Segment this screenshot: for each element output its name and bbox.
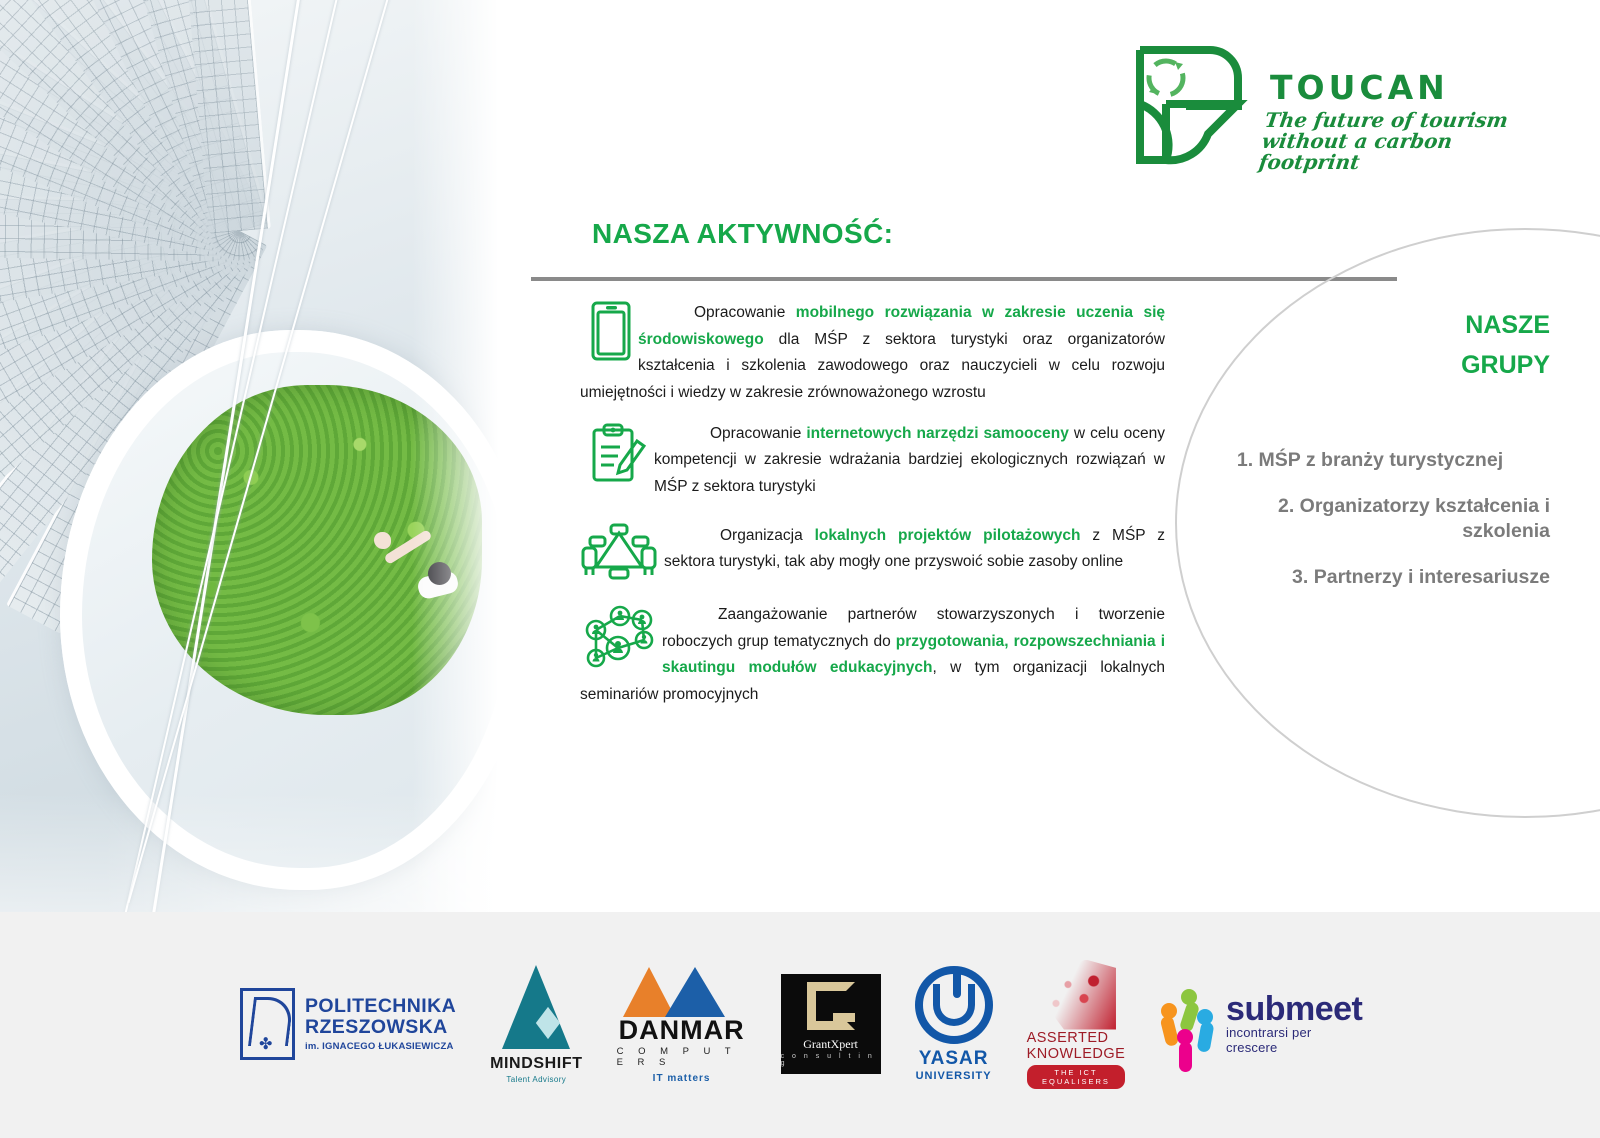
grantxpert-g-icon (807, 982, 855, 1030)
grantxpert-line1: GrantXpert (803, 1037, 858, 1052)
danmar-peak-blue-icon (665, 967, 725, 1017)
activities-list: Opracowanie mobilnego rozwiązania w zakr… (580, 300, 1165, 715)
group-item-1: 1. MŚP z branży turystycznej (1190, 448, 1550, 472)
toucan-logo[interactable]: TOUCAN The future of tourism without a c… (1122, 40, 1542, 180)
activity-text-4: Zaangażowanie partnerów stowarzyszonych … (580, 602, 1165, 709)
politechnika-star-icon: ✤ (259, 1034, 272, 1054)
groups-items: 1. MŚP z branży turystycznej 2. Organiza… (1190, 448, 1550, 612)
highlighted-phrase: internetowych narzędzi samooceny (806, 425, 1068, 442)
yasar-circle-icon (915, 966, 993, 1044)
body-phrase: Opracowanie (710, 425, 806, 442)
group-item-3: 3. Partnerzy i interesariusze (1190, 565, 1550, 589)
photo-right-fade (412, 0, 530, 912)
asserted-knowledge-face-icon (1036, 960, 1116, 1030)
mindshift-logo[interactable]: MINDSHIFT Talent Advisory (490, 959, 583, 1089)
asserted-line1: ASSERTED KNOWLEDGE (1027, 1030, 1126, 1062)
brand-tagline: The future of tourism without a carbon f… (1258, 110, 1547, 173)
brand-tagline-line2: without a carbon footprint (1258, 131, 1544, 173)
clipboard-pencil-icon (590, 421, 648, 488)
submeet-line2: incontrarsi per crescere (1226, 1025, 1364, 1055)
submeet-logo[interactable]: submeet incontrarsi per crescere (1159, 959, 1363, 1089)
network-people-icon (580, 602, 656, 673)
yasar-line2: UNIVERSITY (916, 1070, 992, 1082)
toucan-bird-icon (1122, 40, 1262, 170)
politechnika-line3: im. IGNACEGO ŁUKASIEWICZA (305, 1041, 456, 1052)
grantxpert-line2: c o n s u l t i n g (781, 1053, 881, 1067)
asserted-knowledge-logo[interactable]: ASSERTED KNOWLEDGE THE ICT EQUALISERS (1027, 959, 1126, 1089)
danmar-line3: IT matters (653, 1073, 711, 1084)
groups-title-line1: NASZE (1240, 305, 1550, 345)
activity-text-2: Opracowanie internetowych narzędzi samoo… (580, 421, 1165, 501)
mindshift-line1: MINDSHIFT (490, 1055, 583, 1073)
brand-name: TOUCAN (1270, 68, 1449, 107)
danmar-line1: DANMAR (619, 1017, 745, 1044)
slide: TOUCAN The future of tourism without a c… (0, 0, 1600, 1138)
danmar-line2: C O M P U T E R S (617, 1046, 747, 1068)
partner-logos: ✤ POLITECHNIKA RZESZOWSKA im. IGNACEGO Ł… (240, 934, 1360, 1114)
yasar-tulip-icon (933, 984, 975, 1026)
partner-footer: ✤ POLITECHNIKA RZESZOWSKA im. IGNACEGO Ł… (0, 912, 1600, 1138)
title-divider (531, 277, 1397, 281)
grantxpert-consulting-logo[interactable]: GrantXpert c o n s u l t i n g (781, 959, 881, 1089)
group-item-2: 2. Organizatorzy kształcenia i szkolenia (1190, 494, 1550, 543)
mindshift-line2: Talent Advisory (506, 1075, 566, 1084)
yasar-university-logo[interactable]: YASAR UNIVERSITY (915, 959, 993, 1089)
submeet-line1: submeet (1226, 993, 1364, 1025)
danmar-peaks-icon (617, 965, 747, 1017)
politechnika-rzeszowska-logo[interactable]: ✤ POLITECHNIKA RZESZOWSKA im. IGNACEGO Ł… (240, 959, 456, 1089)
groups-title: NASZE GRUPY (1240, 305, 1550, 385)
list-item: Opracowanie internetowych narzędzi samoo… (580, 421, 1165, 501)
politechnika-mark-icon: ✤ (240, 988, 295, 1060)
brand-tagline-line1: The future of tourism (1263, 110, 1546, 131)
hero-photo (0, 0, 530, 912)
activity-text-1: Opracowanie mobilnego rozwiązania w zakr… (580, 300, 1165, 407)
person-hand (374, 532, 391, 549)
body-phrase: Opracowanie (694, 304, 796, 321)
politechnika-line1: POLITECHNIKA (305, 996, 456, 1017)
asserted-line2: THE ICT EQUALISERS (1027, 1065, 1126, 1089)
activity-text-3: Organizacja lokalnych projektów pilotażo… (580, 523, 1165, 576)
mobile-phone-icon (590, 300, 632, 367)
danmar-computers-logo[interactable]: DANMAR C O M P U T E R S IT matters (617, 959, 747, 1089)
list-item: Organizacja lokalnych projektów pilotażo… (580, 523, 1165, 576)
submeet-people-icon (1159, 989, 1220, 1059)
list-item: Opracowanie mobilnego rozwiązania w zakr… (580, 300, 1165, 407)
list-item: Zaangażowanie partnerów stowarzyszonych … (580, 602, 1165, 709)
page-title: NASZA AKTYWNOŚĆ: (592, 218, 893, 250)
yasar-line1: YASAR (919, 1048, 989, 1070)
groups-title-line2: GRUPY (1240, 345, 1550, 385)
body-phrase: Organizacja (720, 527, 815, 544)
meeting-table-icon (580, 523, 658, 586)
highlighted-phrase: lokalnych projektów pilotażowych (815, 527, 1081, 544)
politechnika-line2: RZESZOWSKA (305, 1017, 456, 1038)
mindshift-triangle-icon (502, 965, 570, 1049)
mindshift-kite-icon (536, 1006, 560, 1038)
